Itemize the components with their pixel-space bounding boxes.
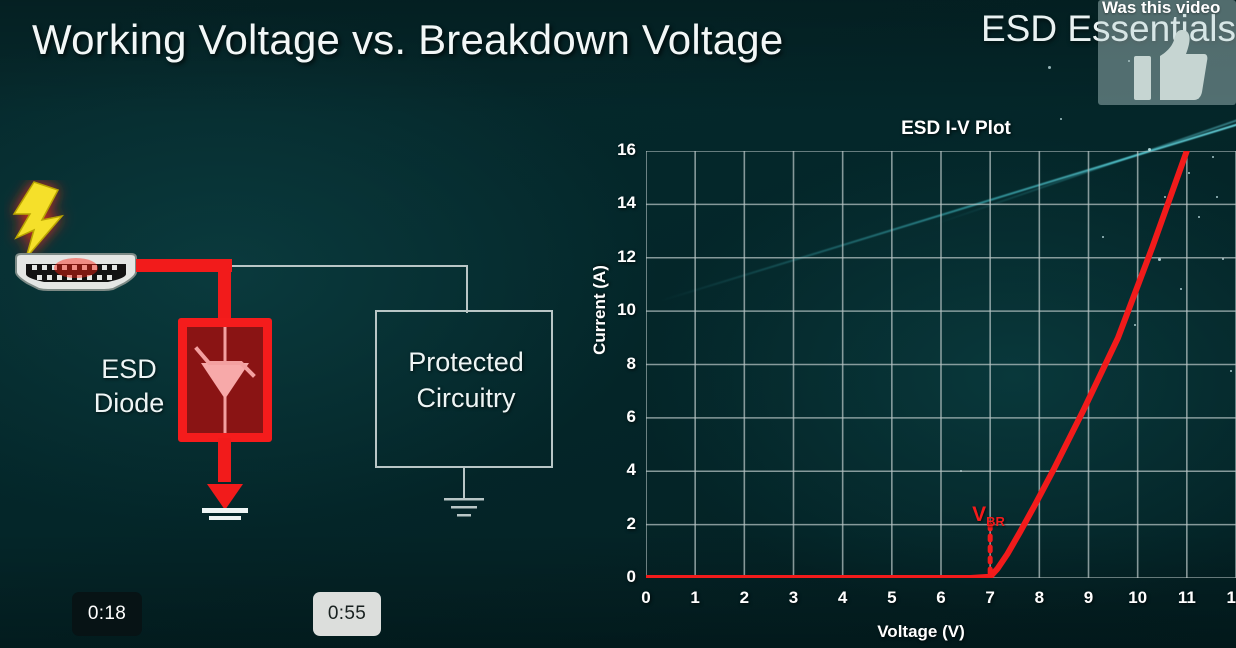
thumbs-up-icon[interactable] (1134, 30, 1208, 100)
timestamp-value: 0:18 (88, 603, 126, 625)
chart-y-tick-4: 4 (590, 460, 636, 480)
chart-y-tick-14: 14 (590, 193, 636, 213)
wire-protected-drop (466, 265, 468, 313)
chart-x-axis-label: Voltage (V) (831, 622, 1011, 642)
protected-circuitry-box: Protected Circuitry (375, 310, 553, 468)
ground-symbol-protected-icon (440, 496, 488, 520)
hdmi-connector-icon (12, 252, 140, 292)
video-survey-overlay[interactable]: Was this video (1098, 0, 1236, 105)
timestamp-value: 0:55 (328, 603, 366, 625)
protected-circuitry-label: Protected Circuitry (377, 344, 555, 416)
chart-y-tick-10: 10 (590, 300, 636, 320)
chart-x-tick-2: 2 (729, 588, 759, 608)
esd-diode-component (178, 318, 272, 442)
survey-question-text: Was this video (1102, 0, 1236, 18)
chart-x-tick-4: 4 (828, 588, 858, 608)
esd-label-line1: ESD (101, 354, 157, 384)
ground-symbol-icon (198, 470, 252, 520)
chart-y-tick-12: 12 (590, 247, 636, 267)
esd-iv-chart: ESD I-V Plot Current (A) Voltage (V) 024… (576, 110, 1236, 648)
chart-x-tick-10: 10 (1123, 588, 1153, 608)
wire-node-to-diode (218, 259, 231, 325)
chart-y-tick-16: 16 (590, 140, 636, 160)
chart-x-tick-3: 3 (779, 588, 809, 608)
chart-x-tick-8: 8 (1024, 588, 1054, 608)
background-particle (1048, 66, 1051, 69)
chart-x-tick-11: 11 (1172, 588, 1202, 608)
chart-x-tick-1: 1 (680, 588, 710, 608)
chart-y-tick-2: 2 (590, 514, 636, 534)
chart-x-tick-7: 7 (975, 588, 1005, 608)
esd-label-line2: Diode (94, 388, 165, 418)
chart-x-tick-9: 9 (1074, 588, 1104, 608)
chart-gridlines (646, 151, 1236, 578)
chart-y-tick-0: 0 (590, 567, 636, 587)
chart-y-tick-8: 8 (590, 354, 636, 374)
vbr-main: V (972, 503, 986, 526)
timestamp-chip-current[interactable]: 0:18 (72, 592, 142, 636)
protected-label-line1: Protected (408, 347, 524, 377)
chart-x-tick-6: 6 (926, 588, 956, 608)
vbr-subscript: BR (986, 514, 1005, 529)
timestamp-chip-total[interactable]: 0:55 (313, 592, 381, 636)
chart-x-tick-12: 12 (1221, 588, 1236, 608)
chart-plot-area: VBR (646, 151, 1236, 578)
esd-diode-label: ESD Diode (84, 352, 174, 420)
page-title: Working Voltage vs. Breakdown Voltage (32, 16, 783, 64)
circuit-diagram: ESD Diode Protected Circuitry (0, 180, 600, 540)
zener-diode-icon (187, 327, 263, 433)
breakdown-voltage-label: VBR (972, 503, 1005, 529)
protected-label-line2: Circuitry (417, 383, 516, 413)
chart-y-tick-6: 6 (590, 407, 636, 427)
slide-canvas: Working Voltage vs. Breakdown Voltage ES… (0, 0, 1236, 648)
chart-title: ESD I-V Plot (846, 118, 1066, 140)
chart-x-tick-0: 0 (631, 588, 661, 608)
chart-x-tick-5: 5 (877, 588, 907, 608)
wire-to-protected (228, 265, 468, 267)
